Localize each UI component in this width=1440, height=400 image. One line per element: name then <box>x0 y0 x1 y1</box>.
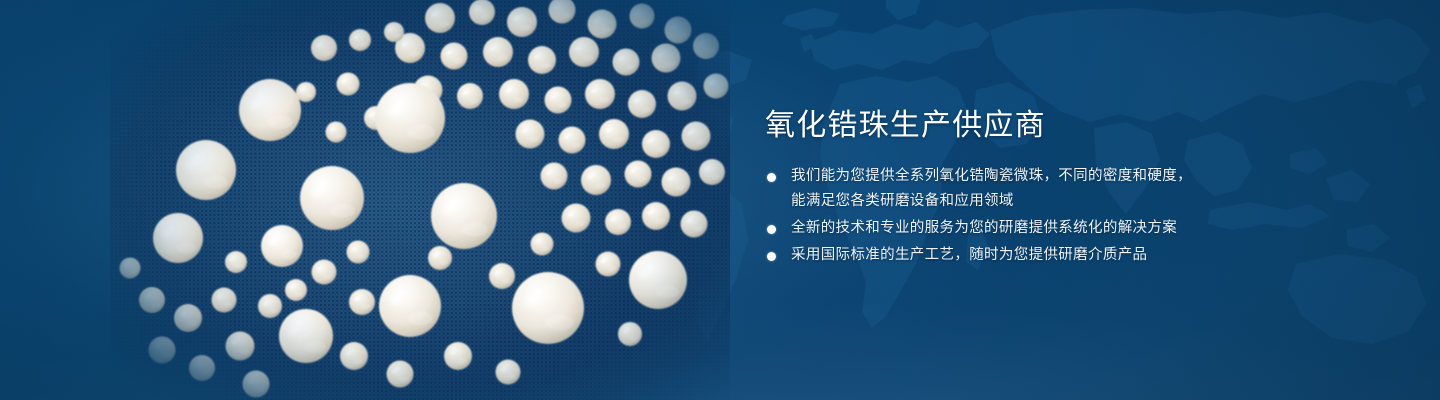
feature-bullet-list: 我们能为您提供全系列氧化锆陶瓷微珠，不同的密度和硬度， 能满足您各类研磨设备和应… <box>765 164 1235 268</box>
hero-banner: 氧化锆珠生产供应商 我们能为您提供全系列氧化锆陶瓷微珠，不同的密度和硬度， 能满… <box>0 0 1440 400</box>
bullet-line-1: 我们能为您提供全系列氧化锆陶瓷微珠，不同的密度和硬度， <box>791 168 1192 184</box>
bullet-dot-icon <box>767 173 776 182</box>
bullet-line-1: 全新的技术和专业的服务为您的研磨提供系统化的解决方案 <box>791 220 1177 236</box>
bullet-line-2: 能满足您各类研磨设备和应用领域 <box>791 189 1235 214</box>
bullet-dot-icon <box>767 225 776 234</box>
list-item: 采用国际标准的生产工艺，随时为您提供研磨介质产品 <box>765 243 1235 268</box>
list-item: 我们能为您提供全系列氧化锆陶瓷微珠，不同的密度和硬度， 能满足您各类研磨设备和应… <box>765 164 1235 214</box>
page-title: 氧化锆珠生产供应商 <box>765 106 1235 146</box>
list-item: 全新的技术和专业的服务为您的研磨提供系统化的解决方案 <box>765 216 1235 241</box>
bullet-line-1: 采用国际标准的生产工艺，随时为您提供研磨介质产品 <box>791 247 1147 263</box>
bullet-dot-icon <box>767 252 776 261</box>
banner-copy: 氧化锆珠生产供应商 我们能为您提供全系列氧化锆陶瓷微珠，不同的密度和硬度， 能满… <box>765 106 1235 270</box>
